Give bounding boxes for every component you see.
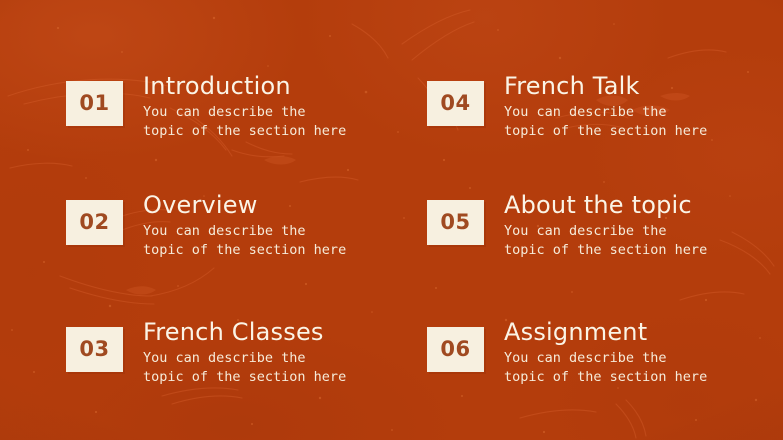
section-description-line2-04: topic of the section here <box>504 122 707 141</box>
section-description-03: You can describe the topic of the sectio… <box>143 349 346 387</box>
section-text-03: French Classes You can describe the topi… <box>143 320 346 388</box>
section-number-02: 02 <box>79 212 109 233</box>
section-item-06[interactable]: 06 Assignment You can describe the topic… <box>427 320 707 388</box>
section-title-06: Assignment <box>504 320 707 345</box>
section-title-04: French Talk <box>504 74 707 99</box>
section-description-01: You can describe the topic of the sectio… <box>143 103 346 141</box>
section-description-line1-03: You can describe the <box>143 349 346 368</box>
section-description-04: You can describe the topic of the sectio… <box>504 103 707 141</box>
section-number-box-05: 05 <box>427 200 484 245</box>
section-description-line2-02: topic of the section here <box>143 241 346 260</box>
section-text-05: About the topic You can describe the top… <box>504 193 707 261</box>
section-description-line2-01: topic of the section here <box>143 122 346 141</box>
section-number-box-06: 06 <box>427 327 484 372</box>
section-description-line2-06: topic of the section here <box>504 368 707 387</box>
sections-grid: 01 Introduction You can describe the top… <box>0 0 783 440</box>
section-description-line2-03: topic of the section here <box>143 368 346 387</box>
section-number-01: 01 <box>79 93 109 114</box>
section-title-02: Overview <box>143 193 346 218</box>
section-text-04: French Talk You can describe the topic o… <box>504 74 707 142</box>
section-number-box-01: 01 <box>66 81 123 126</box>
section-number-box-03: 03 <box>66 327 123 372</box>
section-description-line1-02: You can describe the <box>143 222 346 241</box>
section-number-box-02: 02 <box>66 200 123 245</box>
section-item-03[interactable]: 03 French Classes You can describe the t… <box>66 320 346 388</box>
section-number-06: 06 <box>440 339 470 360</box>
section-text-06: Assignment You can describe the topic of… <box>504 320 707 388</box>
section-description-line1-01: You can describe the <box>143 103 346 122</box>
section-title-05: About the topic <box>504 193 707 218</box>
section-description-05: You can describe the topic of the sectio… <box>504 222 707 260</box>
slide-canvas: 01 Introduction You can describe the top… <box>0 0 783 440</box>
section-title-03: French Classes <box>143 320 346 345</box>
section-text-01: Introduction You can describe the topic … <box>143 74 346 142</box>
section-description-06: You can describe the topic of the sectio… <box>504 349 707 387</box>
section-number-box-04: 04 <box>427 81 484 126</box>
section-item-05[interactable]: 05 About the topic You can describe the … <box>427 193 707 261</box>
section-number-04: 04 <box>440 93 470 114</box>
section-description-line1-04: You can describe the <box>504 103 707 122</box>
section-text-02: Overview You can describe the topic of t… <box>143 193 346 261</box>
section-description-line1-06: You can describe the <box>504 349 707 368</box>
section-item-01[interactable]: 01 Introduction You can describe the top… <box>66 74 346 142</box>
section-number-05: 05 <box>440 212 470 233</box>
section-description-line1-05: You can describe the <box>504 222 707 241</box>
section-description-line2-05: topic of the section here <box>504 241 707 260</box>
section-item-02[interactable]: 02 Overview You can describe the topic o… <box>66 193 346 261</box>
section-number-03: 03 <box>79 339 109 360</box>
section-description-02: You can describe the topic of the sectio… <box>143 222 346 260</box>
section-item-04[interactable]: 04 French Talk You can describe the topi… <box>427 74 707 142</box>
section-title-01: Introduction <box>143 74 346 99</box>
